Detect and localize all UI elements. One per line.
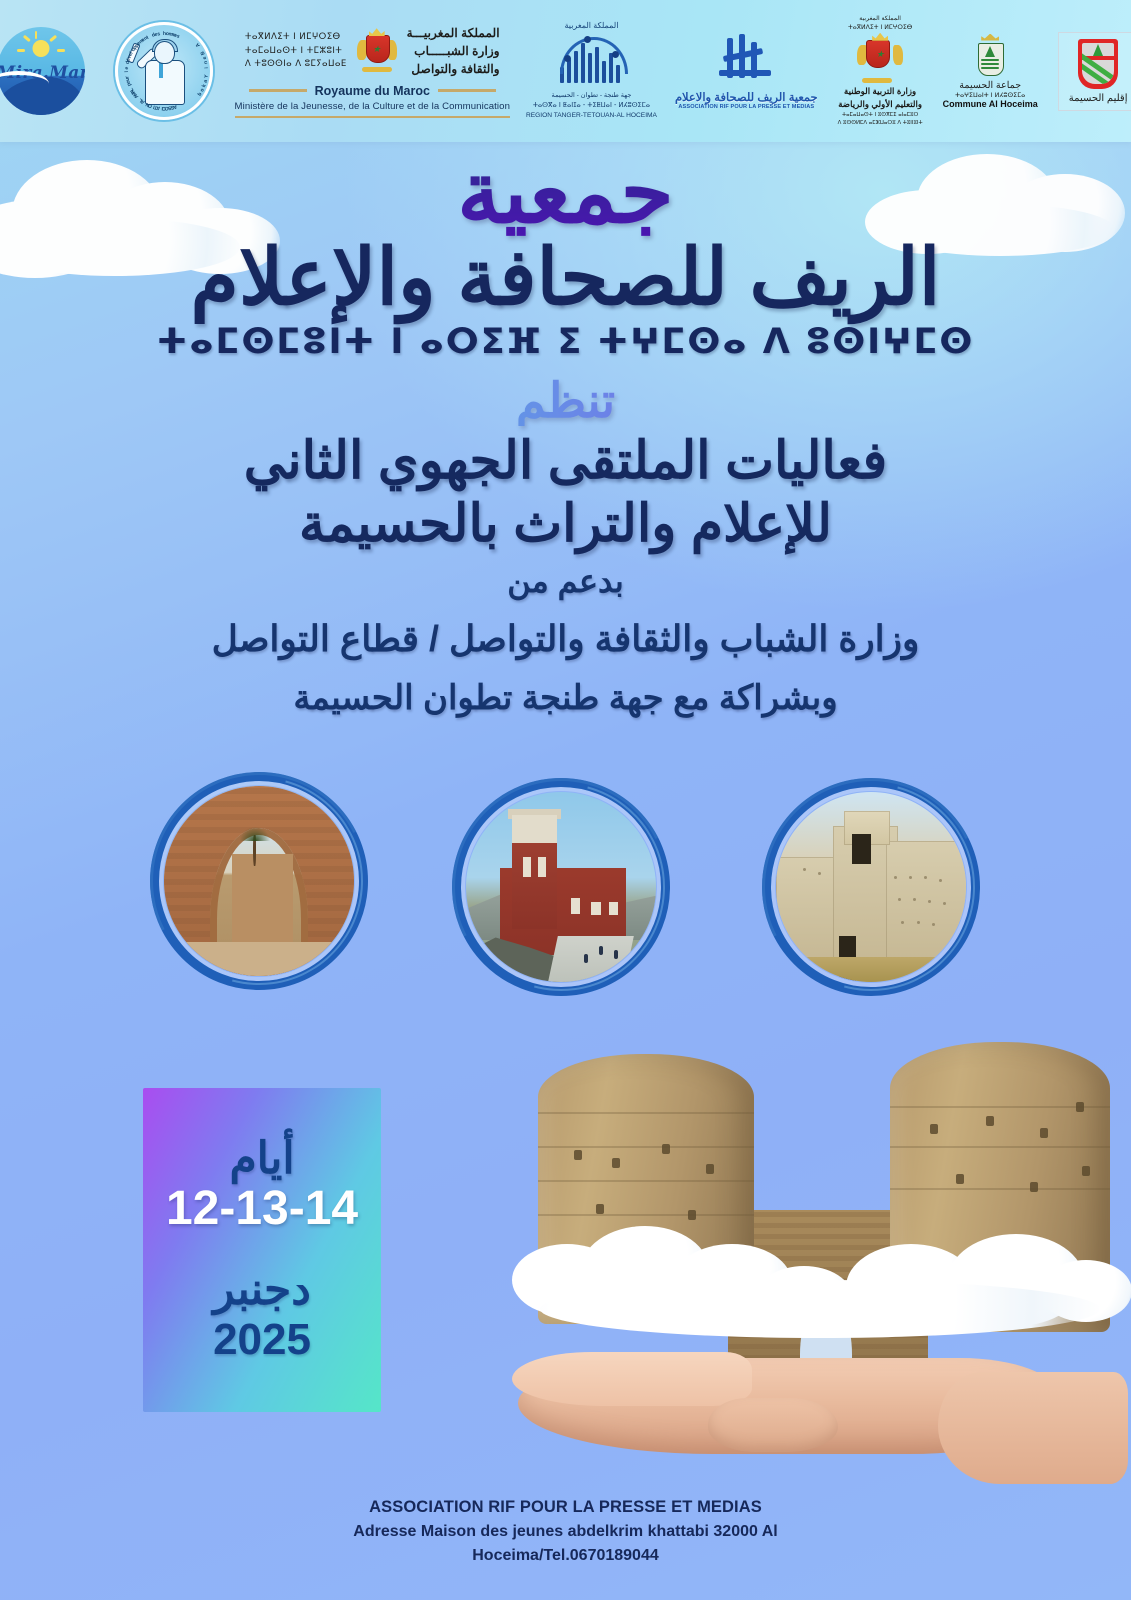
- sponsor-logo-bar: Mira.Mar ASSOCIATION AL AMAL pour le dév…: [0, 0, 1131, 142]
- event-title: فعاليات الملتقى الجهوي الثاني للإعلام وا…: [0, 430, 1131, 557]
- footer-contact-block: ASSOCIATION RIF POUR LA PRESSE ET MEDIAS…: [0, 1496, 1131, 1568]
- logo-ministry-national-education: المملكة المغربية ⵜⴰⴳⵍⴷⵉⵜ ⵏ ⵍⵎⵖⵔⵉⴱ ★ وزار…: [838, 14, 923, 128]
- sun-ray-icon: [49, 35, 57, 42]
- association-name-tifinagh: ⵜⴰⵎⵙⵎⵓⵏⵜ ⵏ ⴰⵔⵉⴼ ⵉ ⵜⵖⵎⵙⴰ ⴷ ⵓⵙⵏⵖⵎⵙ: [0, 322, 1131, 362]
- commune-coat-of-arms-icon: [975, 34, 1005, 78]
- moe-arabic-top: المملكة المغربية: [859, 14, 901, 23]
- region-arabic-top: المملكة المغربية: [564, 21, 618, 30]
- support-label: بدعم من: [0, 562, 1131, 600]
- rif-french-name: ASSOCIATION RIF POUR LA PRESSE ET MEDIAS: [678, 104, 814, 110]
- date-days-label: أيام: [229, 1135, 294, 1183]
- photo-stone-kasbah: [762, 778, 980, 996]
- miramar-badge: Mira.Mar: [0, 27, 85, 115]
- date-days: 12-13-14: [166, 1183, 358, 1236]
- photo-red-tower-building: [452, 778, 670, 996]
- logo-region-tanger-tetouan-alhoceima: المملكة المغربية جهة طنجة - تطوان - الحس…: [526, 21, 657, 121]
- kingdom-label: Royaume du Maroc: [315, 84, 430, 98]
- partnership-line: وبشراكة مع جهة طنجة تطوان الحسيمة: [0, 678, 1131, 718]
- logo-miramar: Mira.Mar: [0, 27, 101, 115]
- footer-address-line-2: Hoceima/Tel.0670189044: [0, 1544, 1131, 1568]
- ministry-tifinagh: ⵜⴰⴳⵍⴷⵉⵜ ⵏ ⵍⵎⵖⵔⵉⴱ ⵜⴰⵎⴰⵡⴰⵙⵜ ⵏ ⵜⵎⵣⵓⵏⵜ ⴷ ⵜⵓⵙ…: [245, 31, 347, 71]
- al-amal-bottom-text: A Beni Yakob: [118, 25, 210, 117]
- support-body: وزارة الشباب والثقافة والتواصل / قطاع ال…: [0, 618, 1131, 660]
- association-name: الريف للصحافة والإعلام: [0, 238, 1131, 318]
- footer-address-line-1: Adresse Maison des jeunes abdelkrim khat…: [0, 1520, 1131, 1544]
- region-caption: جهة طنجة - تطوان - الحسيمة ⵜⴰⵙⴳⴰ ⵏ ⵟⴰⵏⵊⴰ…: [526, 91, 657, 121]
- moe-arabic: وزارة التربية الوطنية والتعليم الأولي وا…: [838, 85, 922, 111]
- sun-ray-icon: [57, 49, 65, 52]
- logo-ministry-youth-culture-communication: ⵜⴰⴳⵍⴷⵉⵜ ⵏ ⵍⵎⵖⵔⵉⴱ ⵜⴰⵎⴰⵡⴰⵙⵜ ⵏ ⵜⵎⵣⵓⵏⵜ ⴷ ⵜⵓⵙ…: [235, 24, 511, 118]
- royal-coat-of-arms-icon: ★: [857, 33, 903, 85]
- open-hand: [508, 1320, 1118, 1485]
- moe-tifinagh-top: ⵜⴰⴳⵍⴷⵉⵜ ⵏ ⵍⵎⵖⵔⵉⴱ: [848, 23, 912, 32]
- ministry-label-fr: Ministère de la Jeunesse, de la Culture …: [235, 101, 511, 112]
- royal-coat-of-arms-icon: ★: [357, 28, 397, 74]
- moe-tifinagh: ⵜⴰⵎⴰⵡⴰⵙⵜ ⵏ ⵓⵙⴳⵎⵉ ⴰⵏⴰⵎⵓⵔ ⴷ ⵓⵙⵙⵍⵎⴷ ⴰⵎⵣⵡⴰⵔⵓ…: [838, 111, 923, 128]
- commune-arabic: جماعة الحسيمة: [959, 80, 1021, 91]
- sun-ray-icon: [17, 49, 25, 52]
- al-amal-badge: ASSOCIATION AL AMAL pour le développemen…: [115, 22, 213, 120]
- sound-wave-icon: [554, 31, 628, 89]
- organizes-word: تنظم: [0, 378, 1131, 426]
- footer-association-name: ASSOCIATION RIF POUR LA PRESSE ET MEDIAS: [0, 1496, 1131, 1520]
- rif-monogram-icon: [713, 32, 779, 90]
- sun-icon: [32, 40, 49, 57]
- logo-province-al-hoceima: إقليم الحسيمة: [1058, 32, 1131, 111]
- ministry-arabic: المملكة المغربيـــة وزارة الشبـــــاب وا…: [407, 24, 500, 79]
- sun-ray-icon: [35, 31, 38, 39]
- rif-arabic-name: جمعية الريف للصحافة والاعلام: [675, 90, 818, 104]
- hand-holding-towers-illustration: [500, 1030, 1131, 1490]
- brush-ring-icon: [150, 772, 368, 990]
- poster-root: Mira.Mar ASSOCIATION AL AMAL pour le dév…: [0, 0, 1131, 1600]
- divider: [235, 116, 511, 119]
- logo-rif-press-media: جمعية الريف للصحافة والاعلام ASSOCIATION…: [675, 32, 818, 110]
- commune-french: Commune Al Hoceima: [943, 99, 1038, 109]
- province-arabic: إقليم الحسيمة: [1069, 93, 1128, 104]
- photo-arch-gate: [150, 772, 368, 990]
- logo-commune-al-hoceima: جماعة الحسيمة ⵜⴰⵖⵉⵡⴰⵏⵜ ⵏ ⵍⵃⵓⵙⵉⵎⴰ Commune…: [943, 34, 1038, 109]
- sun-ray-icon: [23, 35, 31, 42]
- brush-ring-icon: [762, 778, 980, 996]
- date-year: 2025: [213, 1316, 311, 1364]
- logo-al-amal: ASSOCIATION AL AMAL pour le développemen…: [101, 22, 227, 120]
- association-word: جمعية: [0, 150, 1131, 236]
- date-month: دجنبر: [213, 1266, 311, 1314]
- event-date-box: أيام 12-13-14 دجنبر 2025: [143, 1088, 381, 1412]
- province-shield-icon: [1078, 39, 1118, 89]
- event-title-line-2: للإعلام والتراث بالحسيمة: [0, 493, 1131, 556]
- commune-tifinagh: ⵜⴰⵖⵉⵡⴰⵏⵜ ⵏ ⵍⵃⵓⵙⵉⵎⴰ: [955, 91, 1025, 99]
- event-title-line-1: فعاليات الملتقى الجهوي الثاني: [0, 430, 1131, 493]
- brush-ring-icon: [452, 778, 670, 996]
